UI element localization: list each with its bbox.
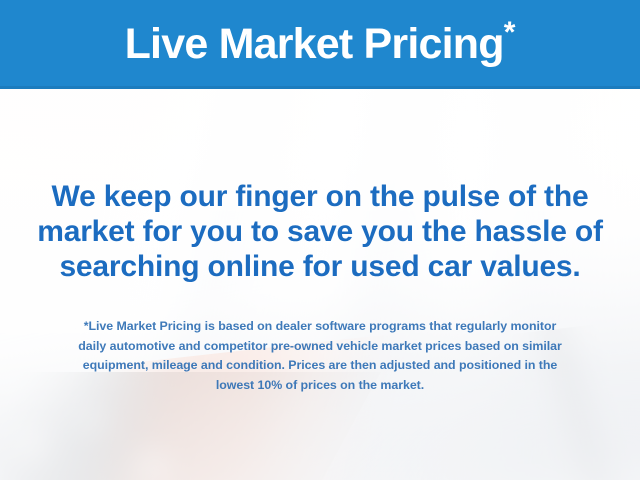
- disclaimer-line-1: *Live Market Pricing is based on dealer …: [0, 317, 640, 337]
- disclaimer-line-4: lowest 10% of prices on the market.: [0, 376, 640, 396]
- disclaimer-line-3: equipment, mileage and condition. Prices…: [0, 356, 640, 376]
- disclaimer-text: *Live Market Pricing is based on dealer …: [0, 317, 640, 395]
- page-title: Live Market Pricing*: [125, 18, 516, 69]
- headline-line-2: market for you to save you the hassle of: [0, 214, 640, 249]
- headline-line-1: We keep our finger on the pulse of the: [0, 179, 640, 214]
- headline: We keep our finger on the pulse of the m…: [0, 179, 640, 284]
- disclaimer-line-2: daily automotive and competitor pre-owne…: [0, 337, 640, 357]
- header-bar: Live Market Pricing*: [0, 0, 640, 89]
- live-market-pricing-slide: Live Market Pricing* We keep our finger …: [0, 0, 640, 480]
- page-title-asterisk: *: [504, 16, 516, 49]
- headline-line-3: searching online for used car values.: [0, 249, 640, 284]
- content-area: We keep our finger on the pulse of the m…: [0, 89, 640, 480]
- page-title-text: Live Market Pricing: [125, 20, 504, 68]
